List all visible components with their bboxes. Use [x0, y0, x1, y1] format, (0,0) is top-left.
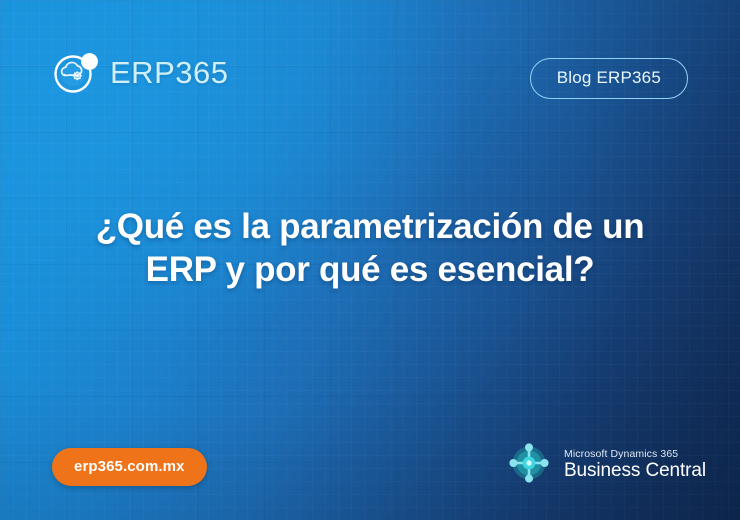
headline-line-2: ERP y por qué es esencial? — [26, 249, 714, 292]
page-title: ¿Qué es la parametrización de un ERP y p… — [0, 206, 740, 291]
dynamics-nodes-icon — [505, 439, 553, 492]
dynamics-eyebrow-label: Microsoft Dynamics 365 — [564, 449, 706, 461]
headline-line-1: ¿Qué es la parametrización de un — [26, 206, 714, 249]
brand-name-label: ERP365 — [110, 57, 228, 88]
site-url-button[interactable]: erp365.com.mx — [52, 448, 207, 486]
brand-logo[interactable]: ERP365 — [52, 48, 228, 96]
dynamics-text-block: Microsoft Dynamics 365 Business Central — [564, 449, 706, 482]
dynamics-partner-badge: Microsoft Dynamics 365 Business Central — [505, 439, 706, 492]
dynamics-product-label: Business Central — [564, 461, 706, 482]
blog-badge[interactable]: Blog ERP365 — [530, 58, 688, 99]
cloud-gear-circle-icon — [52, 48, 100, 96]
blog-banner: ERP365 Blog ERP365 ¿Qué es la parametriz… — [0, 0, 740, 520]
